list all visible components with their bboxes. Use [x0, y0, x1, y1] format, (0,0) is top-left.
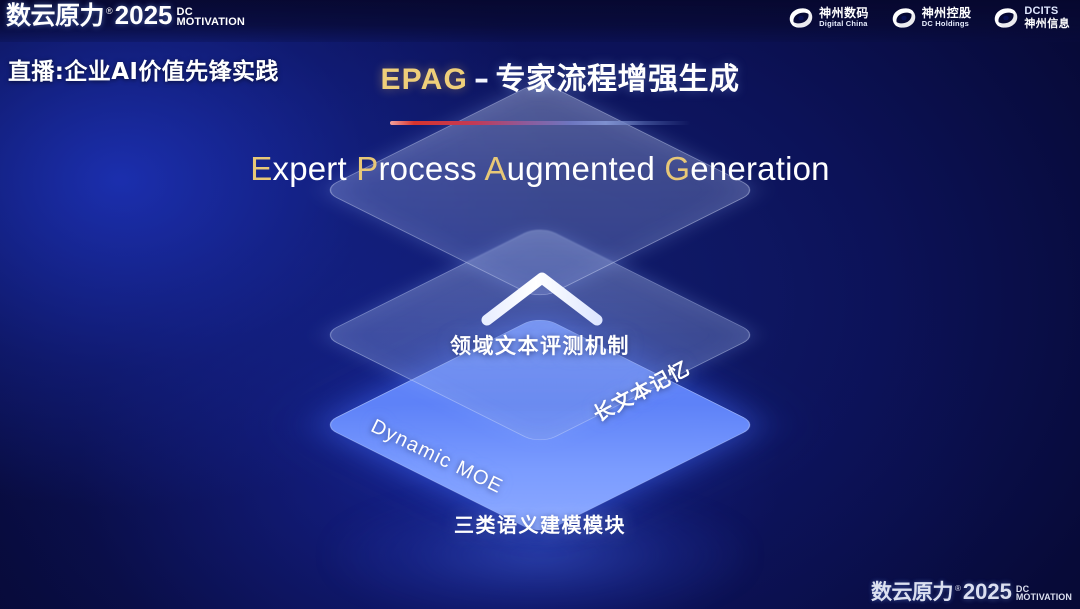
subtitle-rest-expert: xpert	[273, 150, 347, 187]
watermark-brand-cn: 数云原力	[871, 582, 953, 603]
headline-divider	[390, 121, 690, 125]
partner-logo-digital-china: 神州数码 Digital China	[788, 7, 869, 29]
headline-chinese: 专家流程增强生成	[496, 62, 740, 97]
swirl-logo-icon	[993, 7, 1019, 29]
subtitle-cap-g: G	[664, 150, 690, 187]
partner-logo-group: 神州数码 Digital China 神州控股 DC Holdings	[788, 6, 1070, 29]
subtitle-cap-p: P	[356, 150, 378, 187]
partner-name-cn: 神州信息	[1024, 18, 1070, 30]
slide-canvas: 数云原力 ® 2025 DC MOTIVATION 直播:企业AI价值先锋实践 …	[0, 0, 1080, 609]
headline-dash: –	[474, 62, 490, 97]
brand-registered-mark: ®	[106, 6, 113, 16]
subtitle-rest-generation: eneration	[690, 150, 829, 187]
partner-label: 神州数码 Digital China	[819, 7, 869, 27]
headline-acronym: EPAG	[380, 63, 468, 96]
watermark-dc-line2: MOTIVATION	[1016, 593, 1072, 602]
swirl-logo-icon	[891, 7, 917, 29]
stack-label-top: 领域文本评测机制	[0, 330, 1080, 360]
brand-dc-motivation: DC MOTIVATION	[177, 7, 245, 27]
partner-name-en: DCITS	[1024, 6, 1070, 18]
watermark-registered-mark: ®	[955, 584, 961, 593]
swirl-logo-icon	[788, 7, 814, 29]
subtitle-cap-e: E	[250, 150, 272, 187]
brand-year: 2025	[115, 2, 173, 28]
partner-name-en: DC Holdings	[922, 20, 972, 28]
partner-name-en: Digital China	[819, 20, 869, 28]
watermark-dc-motivation: DC MOTIVATION	[1016, 585, 1072, 602]
chevron-up-icon	[478, 268, 606, 330]
subtitle-rest-process: rocess	[378, 150, 476, 187]
brand-logo: 数云原力 ® 2025 DC MOTIVATION	[6, 2, 245, 28]
partner-label: DCITS 神州信息	[1024, 6, 1070, 29]
subtitle-rest-augmented: ugmented	[507, 150, 655, 187]
corner-watermark-logo: 数云原力 ® 2025 DC MOTIVATION	[871, 581, 1072, 603]
subtitle-cap-a: A	[484, 150, 506, 187]
watermark-year: 2025	[963, 581, 1012, 603]
partner-logo-dc-holdings: 神州控股 DC Holdings	[891, 7, 972, 29]
brand-dc-line2: MOTIVATION	[177, 17, 245, 27]
slide-subtitle: Expert Process Augmented Generation	[0, 150, 1080, 188]
partner-logo-dcits: DCITS 神州信息	[993, 6, 1070, 29]
live-stream-title: 直播:企业AI价值先锋实践	[8, 52, 279, 86]
stack-layer-top-plate	[321, 80, 759, 299]
stack-label-bottom: 三类语义建模模块	[0, 509, 1080, 538]
brand-name-cn: 数云原力	[6, 3, 104, 28]
partner-label: 神州控股 DC Holdings	[922, 7, 972, 27]
